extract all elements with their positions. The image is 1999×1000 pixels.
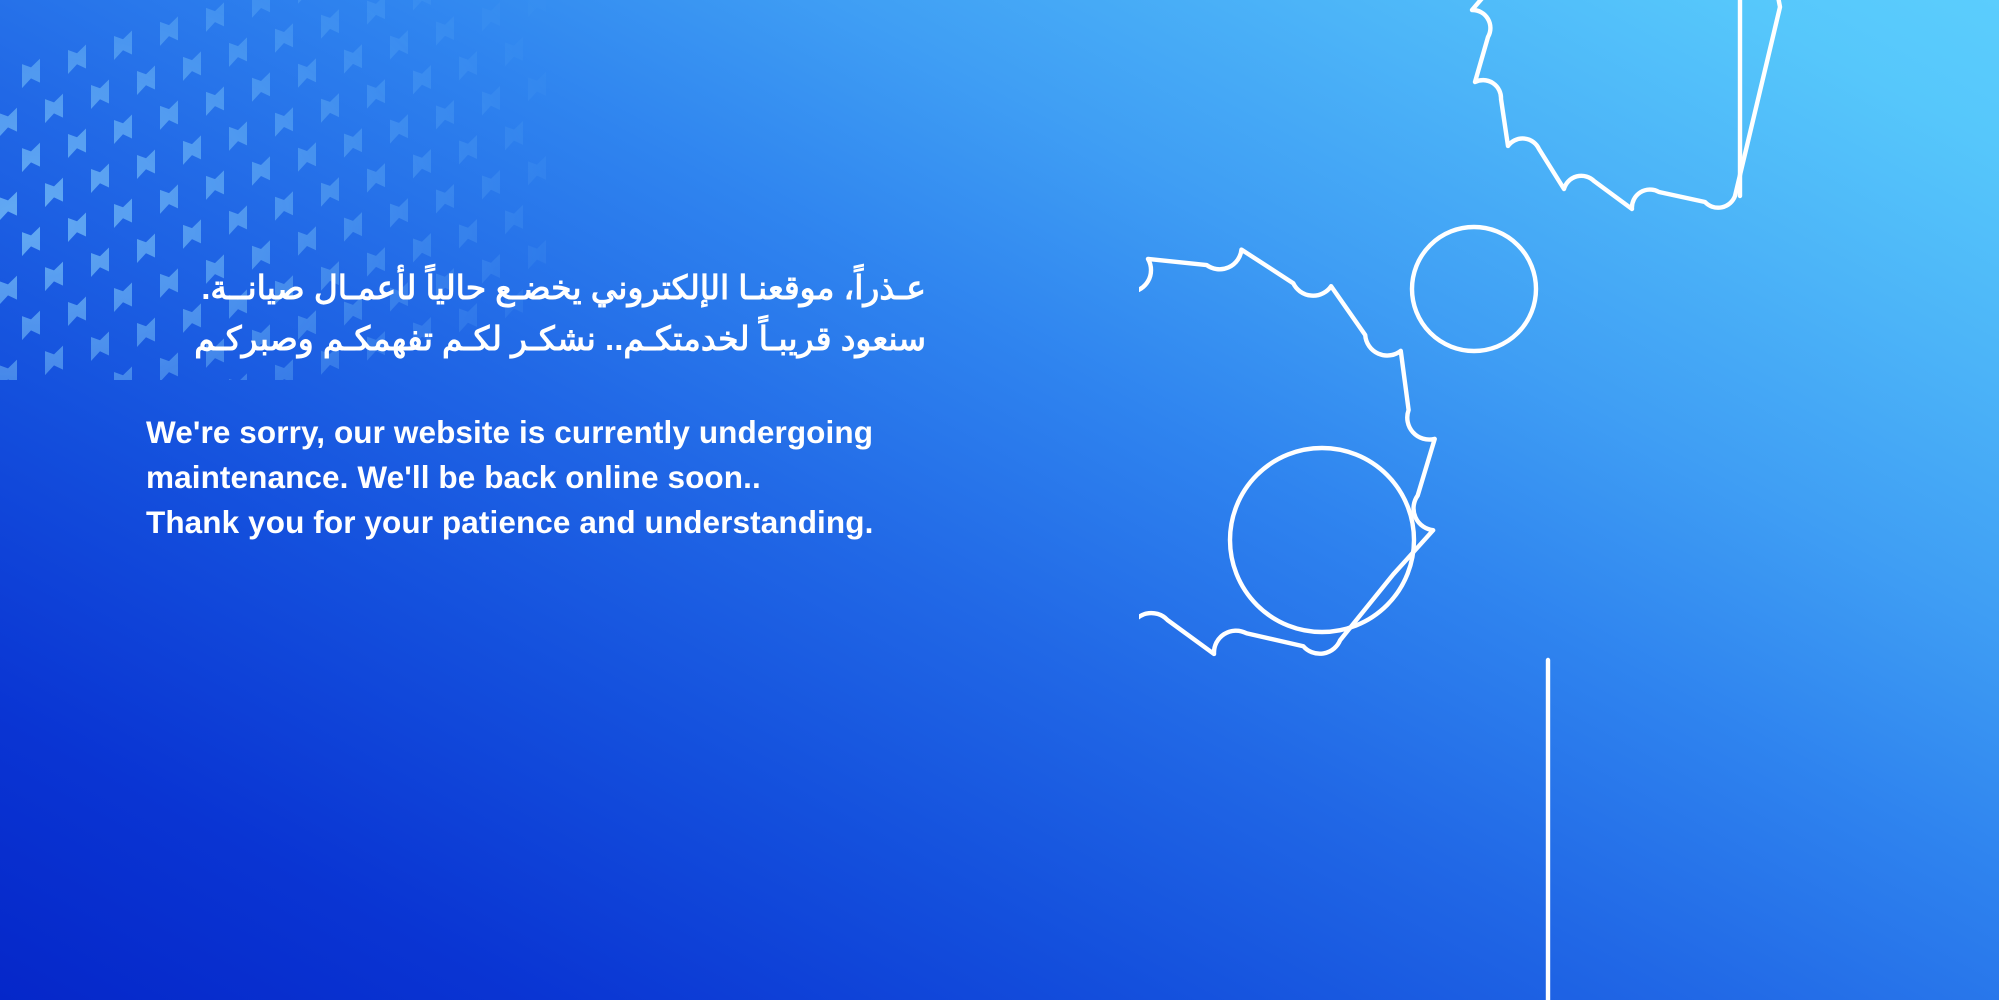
english-message-line-2: maintenance. We'll be back online soon.. — [146, 455, 926, 500]
large-gear-hub — [1230, 448, 1414, 632]
arabic-message-line-1: عـذراً، موقعنـا الإلكتروني يخضـع حالياً … — [146, 262, 926, 313]
arabic-message: عـذراً، موقعنـا الإلكتروني يخضـع حالياً … — [146, 262, 926, 364]
small-gear-hub — [1412, 227, 1536, 351]
english-message-line-1: We're sorry, our website is currently un… — [146, 410, 926, 455]
message-block: عـذراً، موقعنـا الإلكتروني يخضـع حالياً … — [146, 262, 926, 544]
large-gear — [1139, 229, 1460, 675]
gears-decoration — [1139, 0, 1999, 1000]
arabic-message-line-2: سنعود قريبـاً لخدمتكـم.. نشكـر لكـم تفهم… — [146, 313, 926, 364]
small-gear — [1412, 0, 1780, 351]
english-message-line-3: Thank you for your patience and understa… — [146, 500, 926, 545]
english-message: We're sorry, our website is currently un… — [146, 410, 926, 544]
maintenance-page: عـذراً، موقعنـا الإلكتروني يخضـع حالياً … — [0, 0, 1999, 1000]
